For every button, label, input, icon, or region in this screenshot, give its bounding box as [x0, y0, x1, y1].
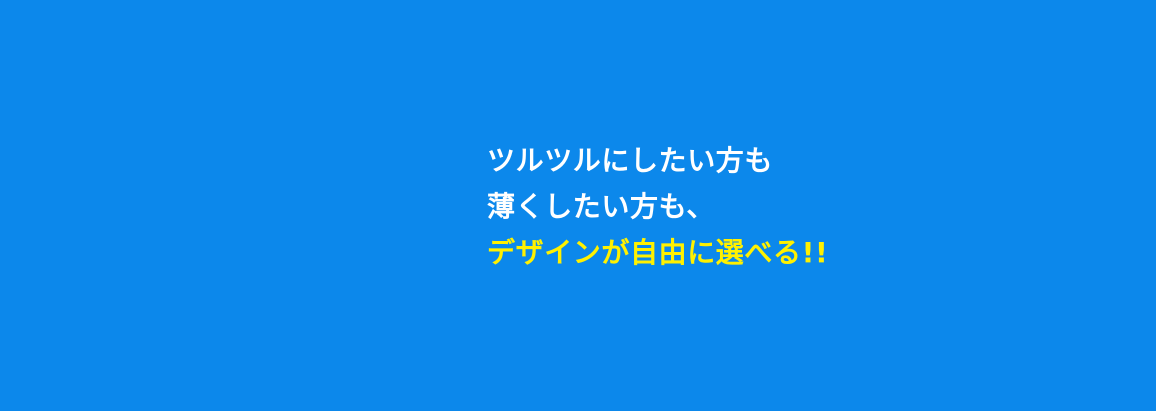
headline-line-1: ツルツルにしたい方も — [487, 138, 1107, 184]
headline-line-2: 薄くしたい方も、 — [487, 184, 1107, 230]
promo-banner: ツルツルにしたい方も 薄くしたい方も、 デザインが自由に選べる!! — [0, 0, 1156, 411]
headline-copy-block: ツルツルにしたい方も 薄くしたい方も、 デザインが自由に選べる!! — [487, 138, 1107, 276]
headline-line-3-accent: デザインが自由に選べる!! — [487, 230, 1107, 276]
